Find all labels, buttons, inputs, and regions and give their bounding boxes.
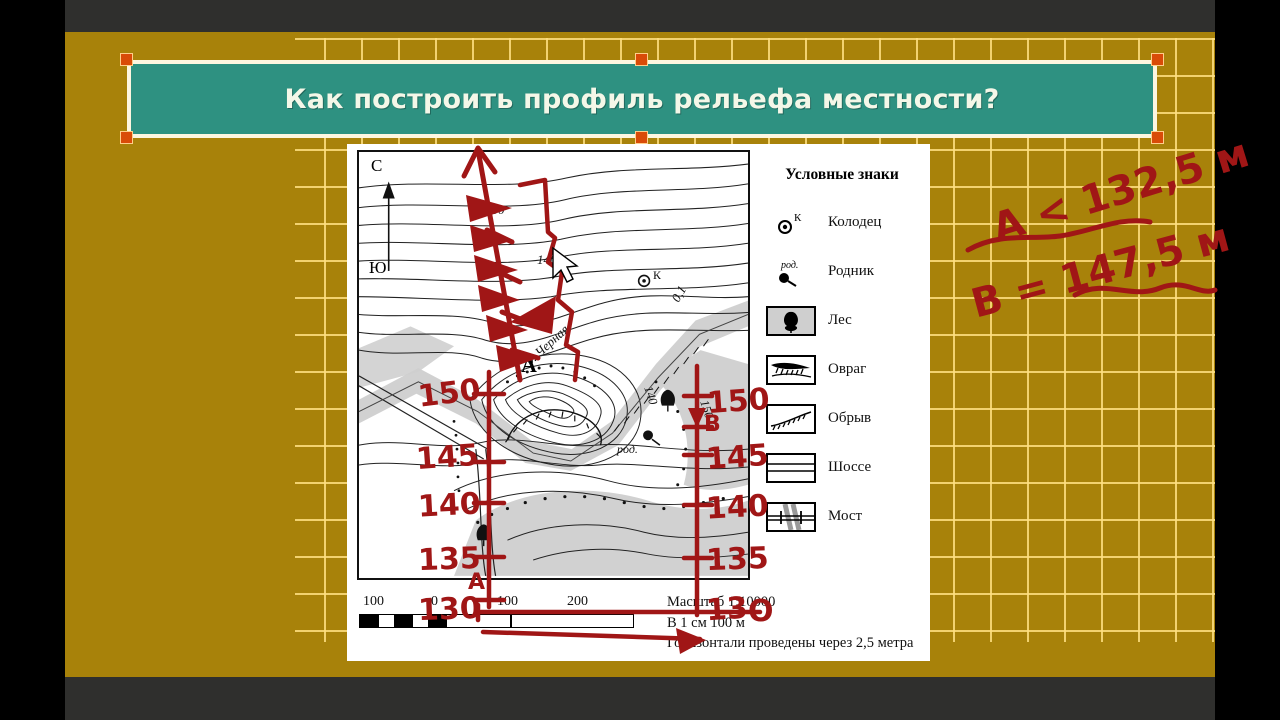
title-band[interactable]: Как построить профиль рельефа местности? <box>127 60 1157 138</box>
scale-text-cm: В 1 см 100 м <box>667 613 913 634</box>
ink-point-b-axis-label: В <box>704 412 721 437</box>
legend-label-well: Колодец <box>828 214 881 231</box>
resize-handle-bottom-right[interactable] <box>1151 131 1164 144</box>
legend-label-bridge: Мост <box>828 508 862 525</box>
legend-label-cliff: Обрыв <box>828 410 871 427</box>
well-letter-label: К <box>653 268 661 283</box>
resize-handle-top-left[interactable] <box>120 53 133 66</box>
legend-label-spring: Родник <box>828 263 874 280</box>
resize-handle-top-center[interactable] <box>635 53 648 66</box>
page-title: Как построить профиль рельефа местности? <box>285 84 1000 115</box>
scale-text-block: Масштаб 1:10000 В 1 см 100 м Горизонтали… <box>667 592 913 654</box>
svg-text:род.: род. <box>780 260 798 271</box>
forest-icon <box>762 306 820 336</box>
map-contours <box>359 152 748 578</box>
legend-item-cliff: Обрыв <box>762 394 922 443</box>
ink-right-label-13: 13 <box>705 591 749 629</box>
ink-left-label-140: 140 <box>417 486 481 524</box>
spring-icon: род. <box>762 257 820 287</box>
scale-bar <box>359 614 634 628</box>
screen: Как построить профиль рельефа местности? <box>0 0 1280 720</box>
ravine-icon <box>762 355 820 385</box>
ink-bottom-right-mark: О <box>748 594 774 629</box>
bridge-icon <box>762 502 820 532</box>
slide-canvas[interactable]: Как построить профиль рельефа местности? <box>65 32 1215 677</box>
contour-label-150-upper: 150 <box>485 202 505 218</box>
map-frame: С Ю 150 140 140 150 A р. Черная 0,1 К ро… <box>357 150 750 580</box>
ink-right-label-135: 135 <box>705 541 769 578</box>
ink-point-a-axis-label: А <box>468 570 485 595</box>
map-legend: Условные знаки К Колодец род. <box>762 166 922 541</box>
legend-item-bridge: Мост <box>762 492 922 541</box>
ink-left-label-145: 145 <box>415 438 480 477</box>
ink-right-label-145: 145 <box>705 438 770 477</box>
scale-text-contours: Горизонтали проведены через 2,5 метра <box>667 633 913 654</box>
title-textbox[interactable]: Как построить профиль рельефа местности? <box>127 60 1157 138</box>
legend-label-forest: Лес <box>828 312 852 329</box>
scale-number-0: 100 <box>363 594 384 610</box>
well-icon: К <box>762 208 820 238</box>
ink-right-label-140: 140 <box>705 488 769 526</box>
legend-label-highway: Шоссе <box>828 459 871 476</box>
scale-numbers: 100 0 100 200 <box>359 594 659 612</box>
cliff-icon <box>762 404 820 434</box>
resize-handle-top-right[interactable] <box>1151 53 1164 66</box>
resize-handle-bottom-center[interactable] <box>635 131 648 144</box>
legend-item-forest: Лес <box>762 296 922 345</box>
legend-item-spring: род. Родник <box>762 247 922 296</box>
spring-text-label: род. <box>617 442 638 457</box>
compass-south-label: Ю <box>369 258 386 278</box>
legend-title: Условные знаки <box>762 166 922 184</box>
scale-number-3: 200 <box>567 594 588 610</box>
highway-icon <box>762 453 820 483</box>
legend-item-well: К Колодец <box>762 198 922 247</box>
legend-item-highway: Шоссе <box>762 443 922 492</box>
contour-label-140-upper: 140 <box>537 252 557 268</box>
scale-number-2: 100 <box>497 594 518 610</box>
resize-handle-bottom-left[interactable] <box>120 131 133 144</box>
legend-item-ravine: Овраг <box>762 345 922 394</box>
ink-left-label-130: 130 <box>417 591 481 628</box>
legend-label-ravine: Овраг <box>828 361 866 378</box>
compass-north-label: С <box>371 156 382 176</box>
svg-text:К: К <box>794 212 802 224</box>
